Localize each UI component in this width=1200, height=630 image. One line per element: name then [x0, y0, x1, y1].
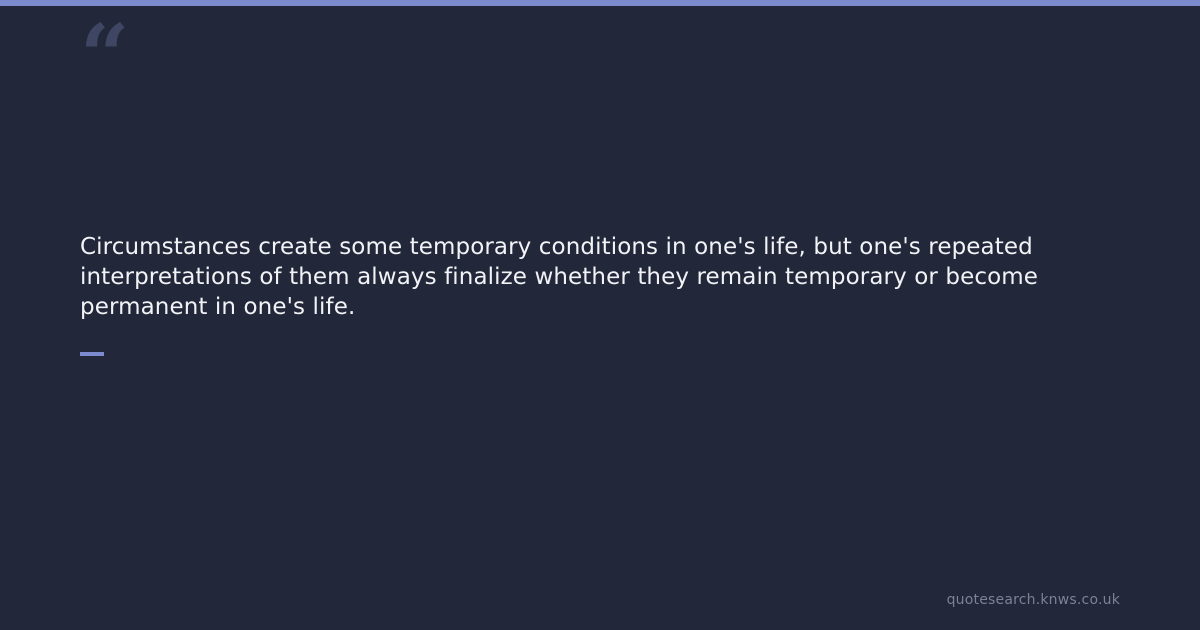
- quote-text: Circumstances create some temporary cond…: [80, 232, 1055, 322]
- attribution-dash-icon: [80, 352, 104, 356]
- quote-body: Circumstances create some temporary cond…: [80, 232, 1055, 322]
- top-accent-bar: [0, 0, 1200, 6]
- open-quote-icon: “: [80, 14, 127, 100]
- attribution: [80, 352, 114, 356]
- site-footer-url: quotesearch.knws.co.uk: [947, 592, 1120, 608]
- quote-card: “ Circumstances create some temporary co…: [0, 0, 1200, 630]
